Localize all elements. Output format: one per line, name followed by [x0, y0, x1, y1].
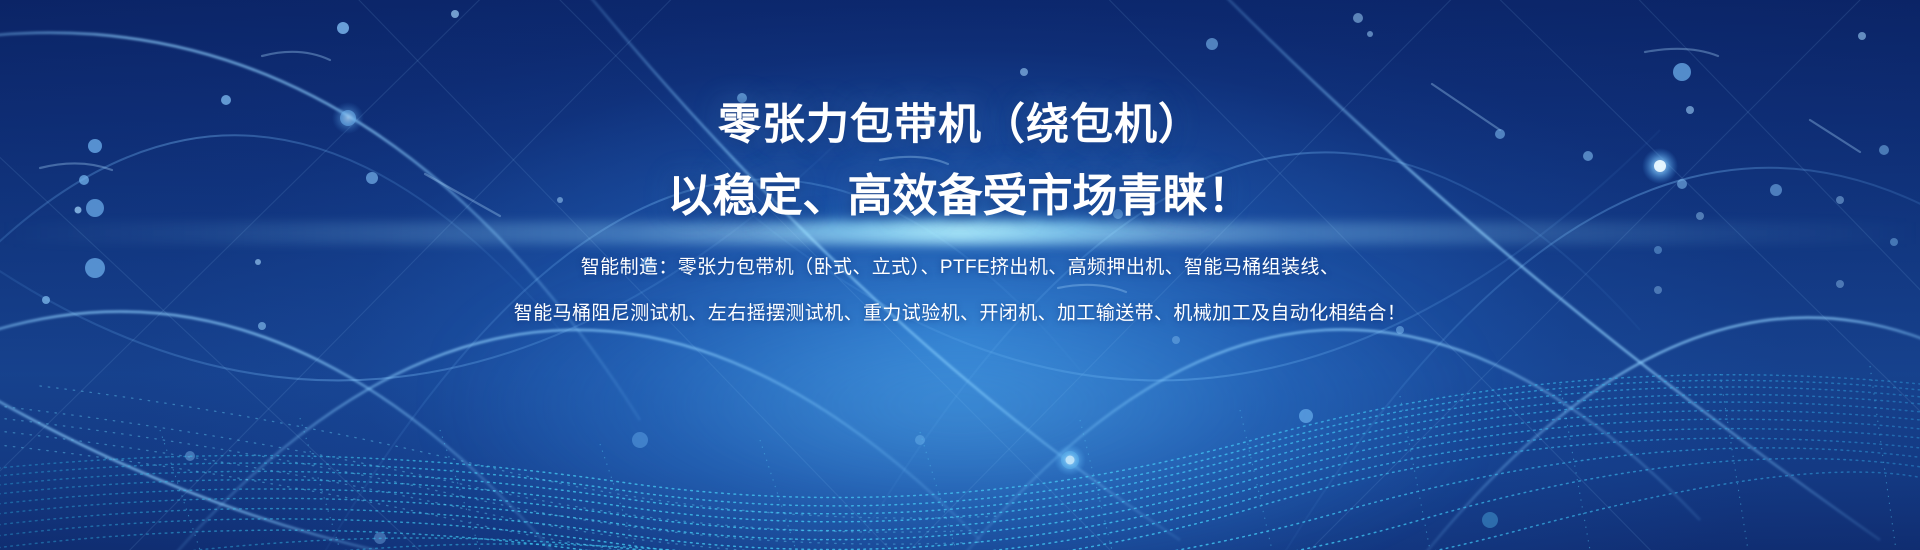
banner-subtitle-line-1: 智能制造：零张力包带机（卧式、立式）、PTFE挤出机、高频押出机、智能马桶组装线… — [0, 254, 1920, 282]
banner-content: 零张力包带机（绕包机） 以稳定、高效备受市场青睐！ 智能制造：零张力包带机（卧式… — [0, 0, 1920, 327]
banner-subtitle-line-2: 智能马桶阻尼测试机、左右摇摆测试机、重力试验机、开闭机、加工输送带、机械加工及自… — [0, 300, 1920, 328]
particle-wave-mesh — [0, 375, 1920, 550]
hero-banner: 零张力包带机（绕包机） 以稳定、高效备受市场青睐！ 智能制造：零张力包带机（卧式… — [0, 0, 1920, 550]
banner-title-line-1: 零张力包带机（绕包机） — [0, 104, 1920, 147]
banner-title-line-2: 以稳定、高效备受市场青睐！ — [0, 173, 1920, 218]
banner-subtitle-block: 智能制造：零张力包带机（卧式、立式）、PTFE挤出机、高频押出机、智能马桶组装线… — [0, 254, 1920, 327]
